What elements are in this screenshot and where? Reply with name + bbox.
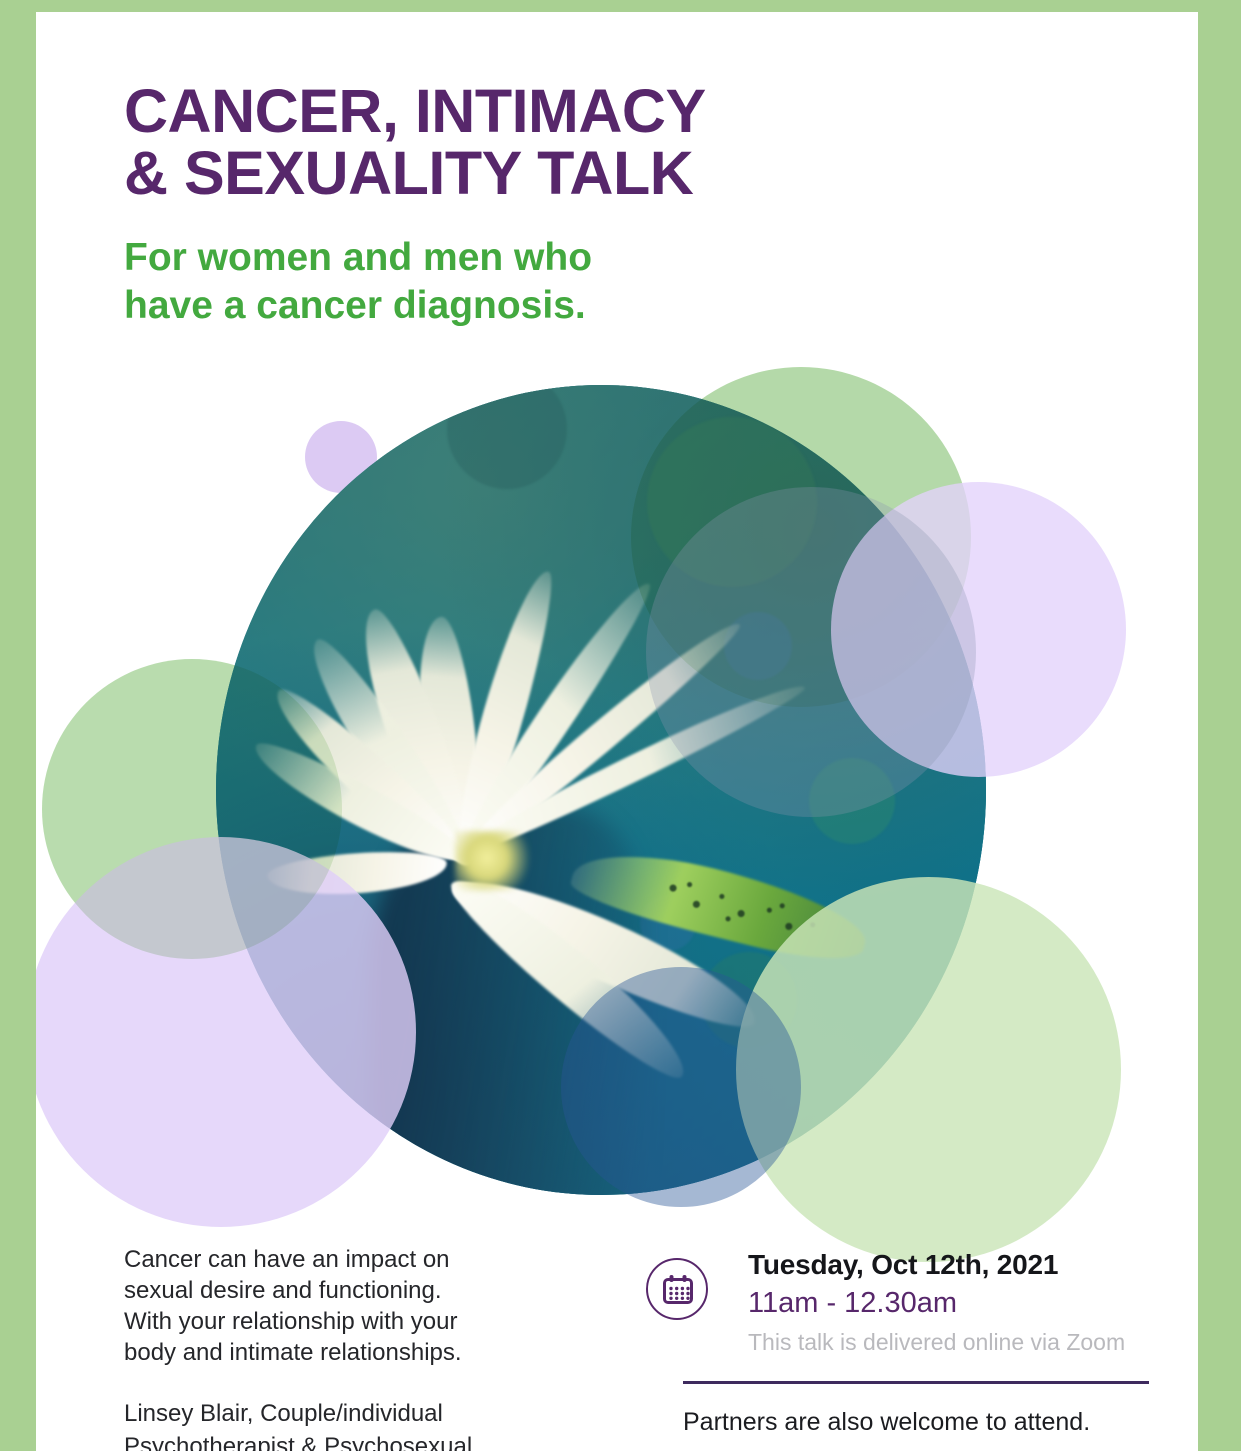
presenter-text: Linsey Blair, Couple/individual Psychoth…: [124, 1397, 554, 1451]
poster-root: CANCER, INTIMACY & SEXUALITY TALK For wo…: [0, 0, 1241, 1451]
slate-circle-center-right: [646, 487, 976, 817]
register-prefix: Register at: [683, 1447, 811, 1451]
register-line: Register at www.cancercarewest.ie: [683, 1444, 1072, 1451]
calendar-icon: [646, 1258, 708, 1320]
poster-page: CANCER, INTIMACY & SEXUALITY TALK For wo…: [36, 12, 1198, 1451]
page-title: CANCER, INTIMACY & SEXUALITY TALK: [124, 80, 1024, 204]
hero-artwork: [36, 357, 1198, 1197]
flower-core: [455, 831, 535, 891]
event-delivery-note: This talk is delivered online via Zoom: [748, 1328, 1125, 1356]
partners-note: Partners are also welcome to attend.: [683, 1405, 1090, 1439]
mint-circle-left-overlay: [42, 659, 342, 959]
event-date: Tuesday, Oct 12th, 2021: [748, 1248, 1058, 1282]
event-time: 11am - 12.30am: [748, 1286, 957, 1320]
description-text: Cancer can have an impact on sexual desi…: [124, 1244, 534, 1368]
divider: [683, 1381, 1149, 1384]
blue-circle-bottom: [561, 967, 801, 1207]
page-subtitle: For women and men who have a cancer diag…: [124, 234, 884, 330]
register-url-link[interactable]: www.cancercarewest.ie: [811, 1447, 1072, 1451]
